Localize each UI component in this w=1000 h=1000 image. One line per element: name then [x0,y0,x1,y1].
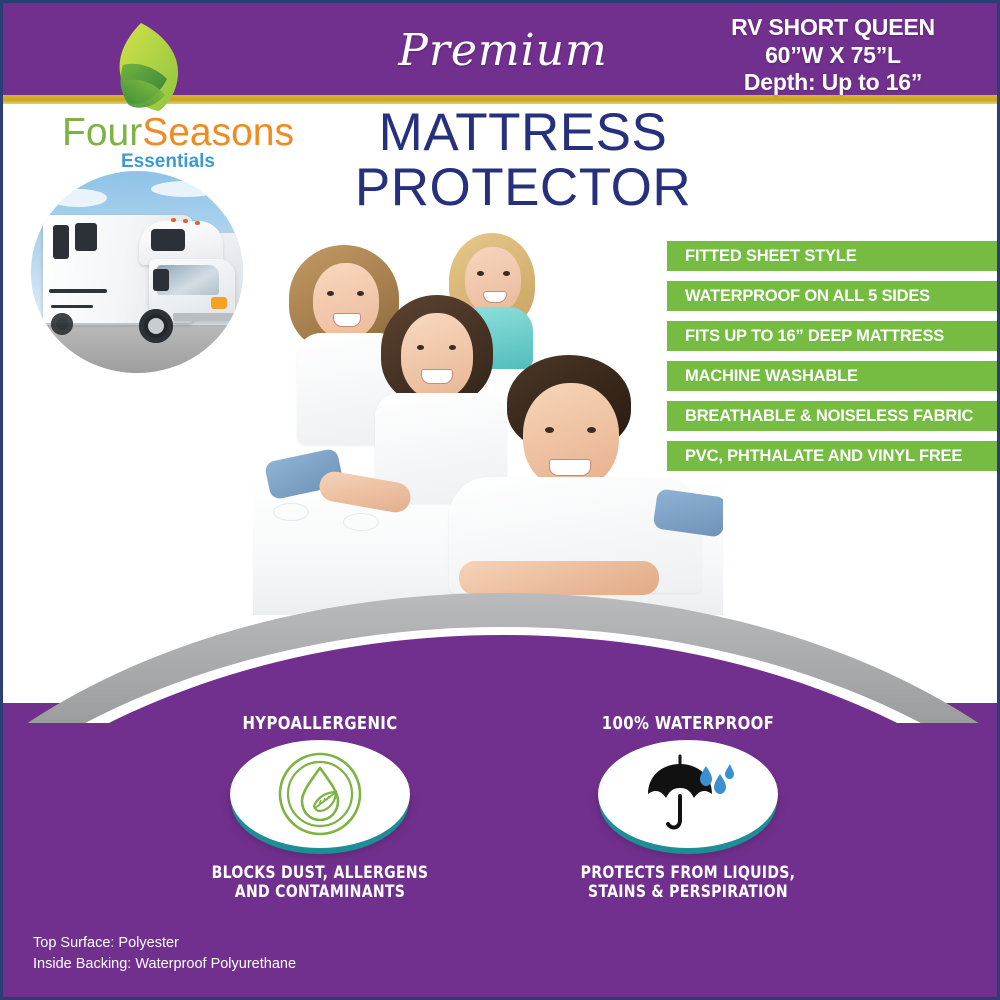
girl-face [465,247,521,313]
boy-face [313,263,379,339]
feature-bar: MACHINE WASHABLE [667,361,997,391]
brand-logo: FourSeasons Essentials [43,21,313,156]
rv-side-window [53,225,69,259]
feature-label: MACHINE WASHABLE [685,367,858,386]
brand-tagline: Essentials [43,152,293,171]
brand-word-seasons: Seasons [142,111,294,154]
rv-headlight [211,297,227,309]
rv-bumper [173,313,235,321]
feature-bar: WATERPROOF ON ALL 5 SIDES [667,281,997,311]
size-line-3: Depth: Up to 16” [703,69,963,97]
product-package-artwork: Premium RV SHORT QUEEN 60”W X 75”L Depth… [0,0,1000,1000]
leaf-icon [107,21,187,113]
mattress-tuft [273,503,309,521]
umbrella-rain-icon [640,750,736,838]
rv-accent-stripe [51,305,93,308]
photo-cloud [151,181,221,197]
man-eye [587,427,596,433]
badge-caption-line-2: AND CONTAMINANTS [168,883,472,902]
rv-motorhome-photo [31,171,243,373]
feature-list: FITTED SHEET STYLE WATERPROOF ON ALL 5 S… [667,241,997,481]
badge-caption: PROTECTS FROM LIQUIDS, STAINS & PERSPIRA… [536,864,840,902]
rv-wheel-hub [148,318,164,334]
woman-face [401,313,473,399]
badge-waterproof: 100% WATERPROOF PROTECTS FROM LIQUIDS, S… [523,713,853,902]
badge-oval [598,740,778,848]
product-title-line-1: MATTRESS [303,105,743,160]
boy-eye [327,291,334,296]
benefit-badges: HYPOALLERGENIC BLOCKS DUST, ALLERGENS AN… [3,703,1000,933]
badge-caption-line-2: STAINS & PERSPIRATION [536,883,840,902]
brand-wordmark: FourSeasons [43,113,313,152]
woman-eye [417,345,424,350]
material-line-1: Top Surface: Polyester [33,933,296,954]
boy-mouth [333,313,361,327]
feature-label: BREATHABLE & NOISELESS FABRIC [685,407,973,426]
rv-front-wheel [139,309,173,343]
page-title: MATTRESS PROTECTOR [303,105,743,215]
size-line-1: RV SHORT QUEEN [703,14,963,42]
rv-accent-stripe [49,289,107,293]
rv-marker-light [195,221,200,225]
feature-bar: BREATHABLE & NOISELESS FABRIC [667,401,997,431]
badge-caption: BLOCKS DUST, ALLERGENS AND CONTAMINANTS [168,864,472,902]
photo-cloud [49,189,107,207]
badge-hypoallergenic: HYPOALLERGENIC BLOCKS DUST, ALLERGENS AN… [155,713,485,902]
woman-eye [449,345,456,350]
girl-eye [477,271,484,276]
feature-label: FITS UP TO 16” DEEP MATTRESS [685,327,944,346]
feature-bar: PVC, PHTHALATE AND VINYL FREE [667,441,997,471]
rv-side-window [75,223,97,251]
product-title-line-2: PROTECTOR [303,160,743,215]
rv-bunk-window [151,229,185,251]
material-info: Top Surface: Polyester Inside Backing: W… [33,933,296,975]
rv-marker-light [183,219,188,223]
brand-word-four: Four [62,111,142,154]
rv-rear-wheel [51,313,73,335]
feature-label: PVC, PHTHALATE AND VINYL FREE [685,447,962,466]
man-mouth [549,459,591,476]
woman-mouth [421,369,453,384]
feature-label: WATERPROOF ON ALL 5 SIDES [685,287,930,306]
badge-title: HYPOALLERGENIC [168,713,472,734]
badge-title: 100% WATERPROOF [536,713,840,734]
boy-eye [357,291,364,296]
badge-caption-line-1: PROTECTS FROM LIQUIDS, [536,864,840,883]
man-eye [545,427,554,433]
feature-bar: FITTED SHEET STYLE [667,241,997,271]
feature-label: FITTED SHEET STYLE [685,247,857,266]
material-line-2: Inside Backing: Waterproof Polyurethane [33,954,296,975]
badge-caption-line-1: BLOCKS DUST, ALLERGENS [168,864,472,883]
water-drop-leaf-icon [274,748,366,840]
rv-door-window [153,269,169,291]
feature-bar: FITS UP TO 16” DEEP MATTRESS [667,321,997,351]
badge-oval [230,740,410,848]
curved-divider [3,523,1000,723]
size-spec-block: RV SHORT QUEEN 60”W X 75”L Depth: Up to … [703,14,963,97]
size-line-2: 60”W X 75”L [703,42,963,70]
girl-eye [503,271,510,276]
rv-marker-light [171,218,176,222]
girl-mouth [483,291,507,303]
